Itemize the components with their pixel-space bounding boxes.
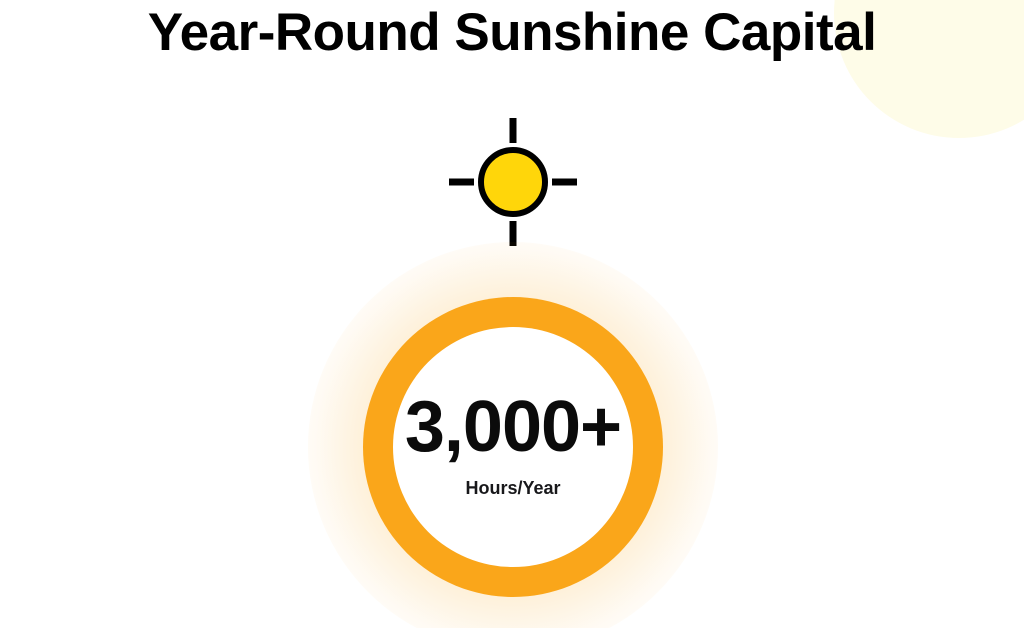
page-title: Year-Round Sunshine Capital xyxy=(0,6,1024,59)
donut-inner: 3,000+ Hours/Year xyxy=(393,327,633,567)
donut-ring: 3,000+ Hours/Year xyxy=(363,297,663,597)
stat-label: Hours/Year xyxy=(465,479,560,497)
sunshine-capital-infographic: Year-Round Sunshine Capital 3,000+ Hours… xyxy=(0,0,1024,628)
sun-icon xyxy=(448,117,578,247)
sunshine-hours-stat: 3,000+ Hours/Year xyxy=(363,297,663,597)
stat-value: 3,000+ xyxy=(405,391,621,463)
